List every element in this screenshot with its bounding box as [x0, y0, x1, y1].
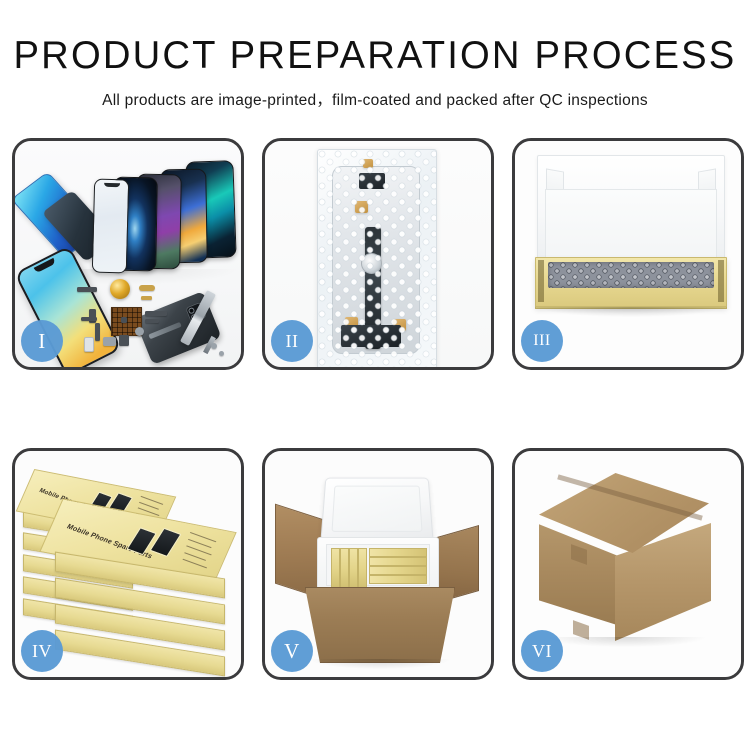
flex-cable — [365, 227, 381, 349]
screw-icon — [219, 351, 224, 356]
wrapped-parts-in-box — [548, 262, 714, 288]
packed-box — [369, 557, 427, 566]
box-back-wall — [545, 189, 717, 261]
packed-box — [369, 548, 427, 557]
step-numeral-badge-2: II — [271, 320, 313, 362]
process-step-panel-1[interactable]: I — [12, 138, 244, 370]
tape-piece — [345, 317, 358, 329]
housing-strip — [148, 322, 181, 339]
packed-box — [369, 566, 427, 575]
packed-box — [331, 548, 340, 588]
small-part — [121, 317, 127, 323]
process-step-panel-6[interactable]: VI — [512, 448, 744, 680]
carton-body — [305, 587, 455, 663]
foam-liner — [317, 537, 439, 595]
phone-notch-icon — [104, 183, 120, 187]
foam-lid-open — [320, 478, 433, 542]
tray-edge-left — [538, 260, 544, 302]
surface-shadow — [545, 637, 705, 647]
small-part — [95, 323, 100, 341]
connector-block — [341, 325, 401, 347]
step-numeral-badge-4: IV — [21, 630, 63, 672]
gold-component-icon — [110, 279, 130, 299]
step-numeral-badge-3: III — [521, 320, 563, 362]
bubble-wrap-bag — [317, 149, 437, 367]
page-title: PRODUCT PREPARATION PROCESS — [8, 36, 743, 77]
camera-node-icon — [361, 253, 382, 274]
tape-piece — [363, 159, 373, 168]
page-subtitle: All products are image-printed，film-coat… — [0, 88, 750, 110]
small-part — [84, 337, 94, 352]
small-part — [103, 337, 116, 346]
small-part — [141, 296, 152, 300]
foam-cavity — [326, 544, 430, 586]
small-part — [145, 319, 159, 323]
step-numeral-badge-5: V — [271, 630, 313, 672]
tape-piece — [355, 201, 368, 213]
process-step-panel-3[interactable]: III — [512, 138, 744, 370]
small-part — [139, 285, 155, 291]
bag-inner-part — [332, 166, 420, 354]
screen-protector-glass — [92, 179, 129, 274]
surface-shadow — [541, 307, 721, 317]
step-numeral-badge-6: VI — [521, 630, 563, 672]
process-step-panel-2[interactable]: II — [262, 138, 494, 370]
small-part — [81, 317, 97, 321]
packed-box — [340, 548, 349, 588]
connector-block — [359, 173, 385, 189]
process-step-panel-5[interactable]: V — [262, 448, 494, 680]
box-tray — [535, 257, 727, 307]
tape-piece — [393, 319, 406, 331]
page-header: PRODUCT PREPARATION PROCESS All products… — [0, 0, 750, 110]
foam-lid-inner — [331, 486, 422, 532]
small-part — [119, 335, 129, 346]
small-part — [135, 327, 144, 336]
surface-shadow — [311, 659, 449, 669]
packed-box — [349, 548, 358, 588]
small-part — [145, 311, 167, 316]
process-step-grid: I II — [12, 138, 738, 680]
screw-icon — [211, 343, 217, 349]
process-step-panel-4[interactable]: Mobile Phone Spare Parts Mobile Phone Sp… — [12, 448, 244, 680]
tray-edge-right — [718, 260, 724, 302]
step-numeral-badge-1: I — [21, 320, 63, 362]
packed-box — [369, 575, 427, 584]
packed-box — [358, 548, 367, 588]
small-part — [77, 287, 97, 292]
phone-notch-icon — [34, 258, 56, 273]
